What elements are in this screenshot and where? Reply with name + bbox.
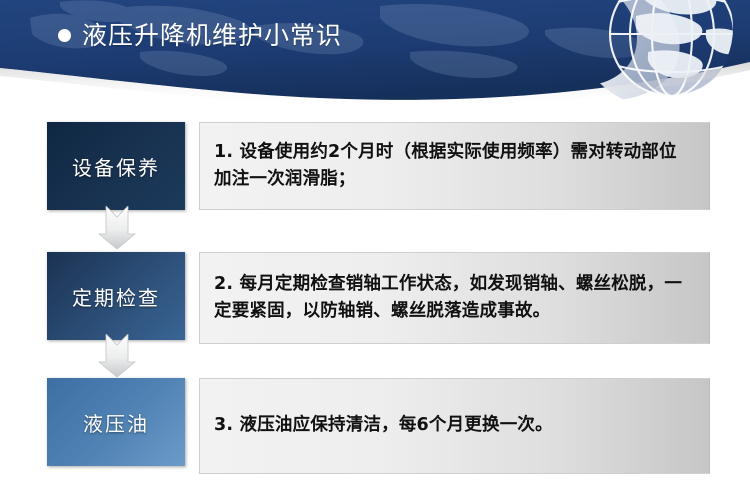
step-content-2: 2. 每月定期检查销轴工作状态，如发现销轴、螺丝松脱，一定要紧固，以防轴销、螺丝… (199, 252, 710, 344)
step-content-text: 3. 液压油应保持清洁，每6个月更换一次。 (214, 412, 553, 439)
down-arrow-icon (98, 206, 136, 250)
bullet-dot-icon (58, 29, 71, 42)
step-label-regular-inspection[interactable]: 定期检查 (47, 252, 185, 340)
step-label-text: 定期检查 (72, 282, 160, 311)
maintenance-steps-list: 设备保养 1. 设备使用约2个月时（根据实际使用频率）需对转动部位加注一次润滑脂… (0, 108, 750, 495)
step-label-equipment-maintenance[interactable]: 设备保养 (47, 122, 185, 210)
page-title-text: 液压升降机维护小常识 (82, 23, 342, 48)
step-content-3: 3. 液压油应保持清洁，每6个月更换一次。 (199, 378, 710, 474)
header-banner-graphic (0, 0, 750, 108)
down-arrow-icon (98, 334, 136, 378)
step-content-1: 1. 设备使用约2个月时（根据实际使用频率）需对转动部位加注一次润滑脂； (199, 122, 710, 210)
step-content-text: 2. 每月定期检查销轴工作状态，如发现销轴、螺丝松脱，一定要紧固，以防轴销、螺丝… (214, 271, 693, 325)
step-label-text: 设备保养 (72, 152, 160, 181)
step-label-hydraulic-oil[interactable]: 液压油 (47, 378, 185, 466)
page-title: 液压升降机维护小常识 (58, 23, 342, 48)
step-content-text: 1. 设备使用约2个月时（根据实际使用频率）需对转动部位加注一次润滑脂； (214, 139, 693, 193)
page-header: 液压升降机维护小常识 (0, 0, 750, 108)
step-label-text: 液压油 (83, 408, 149, 437)
